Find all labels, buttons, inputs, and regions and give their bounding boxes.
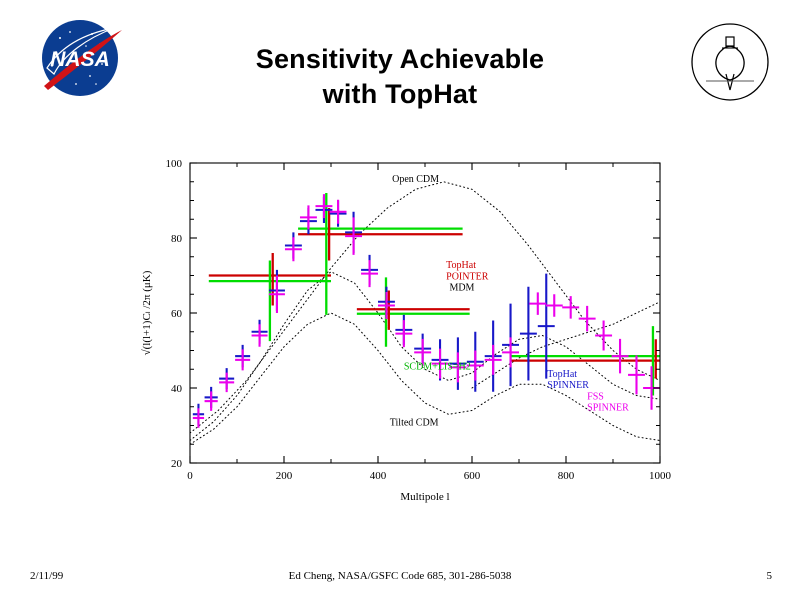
error-bar-point [546, 294, 563, 317]
error-bar-point [252, 324, 268, 347]
balloon-icon [716, 46, 744, 80]
error-bar-point [520, 287, 537, 381]
error-bar-point [330, 200, 347, 224]
error-bar-point [579, 306, 596, 332]
x-tick-label: 200 [276, 470, 293, 482]
y-tick-label: 20 [171, 458, 183, 470]
y-tick-label: 40 [171, 383, 183, 395]
title-line-2: with TopHat [140, 77, 660, 112]
x-axis-label: Multipole l [400, 491, 449, 503]
y-tick-label: 60 [171, 308, 183, 320]
error-bar-point [205, 391, 218, 411]
page-title: Sensitivity Achievable with TopHat [140, 42, 660, 111]
error-bar-point [219, 373, 234, 393]
x-tick-label: 600 [464, 470, 481, 482]
chart-annotation: TopHat [547, 369, 577, 380]
error-bar-point [538, 274, 555, 379]
error-bar-point [235, 349, 250, 370]
error-bar-point [502, 337, 519, 367]
error-bar-point [612, 339, 629, 374]
footer-attribution: Ed Cheng, NASA/GSFC Code 685, 301-286-50… [0, 570, 800, 582]
chart-annotation: Open CDM [392, 174, 439, 185]
y-tick-label: 100 [166, 158, 183, 170]
y-axis-label: √(l(l+1)Cₗ /2π (μK) [141, 270, 153, 355]
nasa-logo-wordmark: NASA [50, 48, 110, 71]
x-tick-label: 1000 [649, 470, 672, 482]
chart-annotation: SPINNER [587, 403, 629, 414]
x-tick-label: 800 [558, 470, 575, 482]
error-bar-point [361, 260, 378, 287]
title-line-1: Sensitivity Achievable [140, 42, 660, 77]
tophat-balloon-logo [686, 18, 774, 106]
sensitivity-chart: 0200400600800100020406080100Multipole l√… [132, 145, 680, 520]
error-bar-point [285, 237, 302, 261]
error-bar-point [345, 217, 362, 255]
chart-annotation: SPINNER [547, 380, 589, 391]
nasa-logo: NASA [30, 12, 130, 104]
error-bar-point [395, 320, 412, 347]
tophat-logo-svg [686, 18, 774, 106]
payload-box-icon [726, 37, 734, 46]
x-tick-label: 400 [370, 470, 387, 482]
error-bar-point [562, 296, 579, 319]
y-tick-label: 80 [171, 233, 183, 245]
chart-annotation: POINTER [446, 271, 489, 282]
chart-annotation: Tilted CDM [390, 418, 439, 429]
chart-annotation: FSS [587, 391, 604, 402]
error-bar-point [378, 292, 395, 319]
error-bar-point [529, 292, 546, 315]
slide-canvas: NASA Sensitivity Achievable with TopHat … [0, 0, 800, 600]
nasa-logo-svg: NASA [30, 12, 130, 104]
annotations-group: Open CDMTilted CDMSCDM+LIS=H2TopHatPOINT… [390, 174, 629, 429]
error-bar-point [193, 408, 204, 428]
chart-annotation: SCDM+LIS=H2 [404, 361, 471, 372]
footer-page-number: 5 [767, 570, 773, 582]
chart-svg: 0200400600800100020406080100Multipole l√… [132, 145, 680, 520]
x-tick-label: 0 [187, 470, 193, 482]
error-bar-point [300, 205, 317, 229]
chart-annotation: TopHat [446, 260, 476, 271]
chart-annotation: MDM [449, 283, 474, 294]
balloon-tether-icon [726, 74, 734, 90]
